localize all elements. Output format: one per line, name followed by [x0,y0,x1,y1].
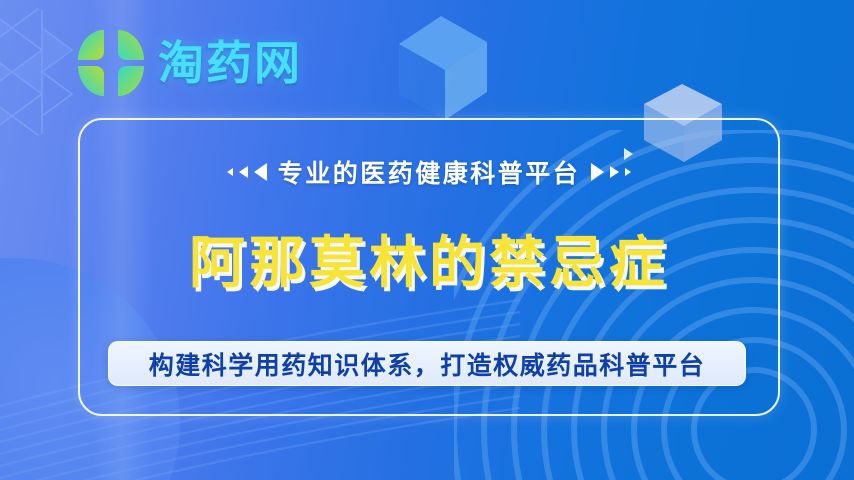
right-triangle-medium-icon [610,166,619,178]
left-triangle-small-icon [227,168,233,176]
tagline-text: 构建科学用药知识体系，打造权威药品科普平台 [149,346,706,382]
brand-logo: 淘药网 [74,24,302,102]
subtitle-row: 专业的医药健康科普平台 [80,154,778,190]
isometric-cube-outline-icon [383,8,503,123]
left-arrows-group [227,163,267,181]
right-triangle-small-icon [625,168,631,176]
page-title: 阿那莫林的禁忌症 [80,218,778,299]
right-arrows-group [591,163,631,181]
tagline-banner: 构建科学用药知识体系，打造权威药品科普平台 [108,341,746,386]
pinwheel-cross-logo-icon [74,26,148,100]
subtitle-text: 专业的医药健康科普平台 [278,154,581,190]
left-triangle-medium-icon [239,166,248,178]
promo-poster: 淘药网 专业的医药健康科普平台 阿那莫林的禁忌症 构建科学用药知识体系，打造权威… [0,0,854,480]
left-triangle-large-icon [254,163,267,181]
brand-name: 淘药网 [158,40,302,86]
right-triangle-large-icon [591,163,604,181]
